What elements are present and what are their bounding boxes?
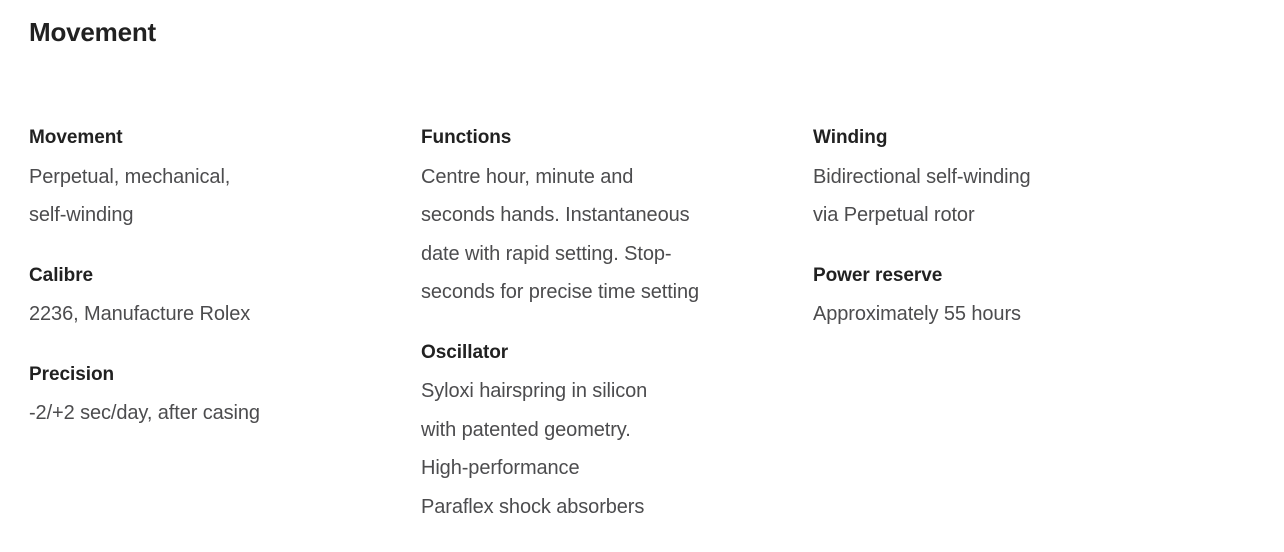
movement-specs-page: Movement Movement Perpetual, mechanical,… xyxy=(0,0,1284,552)
spec-columns: Movement Perpetual, mechanical, self-win… xyxy=(29,119,1284,526)
winding-column: Winding Bidirectional self-winding via P… xyxy=(813,119,1183,334)
spec-block-functions: Functions Centre hour, minute and second… xyxy=(421,119,791,312)
spec-block-movement: Movement Perpetual, mechanical, self-win… xyxy=(29,119,399,235)
spec-block-precision: Precision -2/+2 sec/day, after casing xyxy=(29,356,399,433)
spec-block-power-reserve: Power reserve Approximately 55 hours xyxy=(813,257,1183,334)
spec-label-winding: Winding xyxy=(813,119,1183,158)
spec-value-precision: -2/+2 sec/day, after casing xyxy=(29,394,399,433)
spec-value-calibre: 2236, Manufacture Rolex xyxy=(29,295,399,334)
spec-value-power-reserve: Approximately 55 hours xyxy=(813,295,1183,334)
spec-value-functions: Centre hour, minute and seconds hands. I… xyxy=(421,158,791,312)
spec-label-calibre: Calibre xyxy=(29,257,399,296)
movement-column: Movement Perpetual, mechanical, self-win… xyxy=(29,119,399,433)
spec-label-precision: Precision xyxy=(29,356,399,395)
spec-label-movement: Movement xyxy=(29,119,399,158)
functions-column: Functions Centre hour, minute and second… xyxy=(421,119,791,526)
spec-value-oscillator: Syloxi hairspring in silicon with patent… xyxy=(421,372,791,526)
spec-block-winding: Winding Bidirectional self-winding via P… xyxy=(813,119,1183,235)
spec-label-power-reserve: Power reserve xyxy=(813,257,1183,296)
spec-value-movement: Perpetual, mechanical, self-winding xyxy=(29,158,399,235)
spec-label-oscillator: Oscillator xyxy=(421,334,791,373)
page-title: Movement xyxy=(29,15,156,49)
spec-label-functions: Functions xyxy=(421,119,791,158)
spec-value-winding: Bidirectional self-winding via Perpetual… xyxy=(813,158,1183,235)
spec-block-calibre: Calibre 2236, Manufacture Rolex xyxy=(29,257,399,334)
spec-block-oscillator: Oscillator Syloxi hairspring in silicon … xyxy=(421,334,791,527)
